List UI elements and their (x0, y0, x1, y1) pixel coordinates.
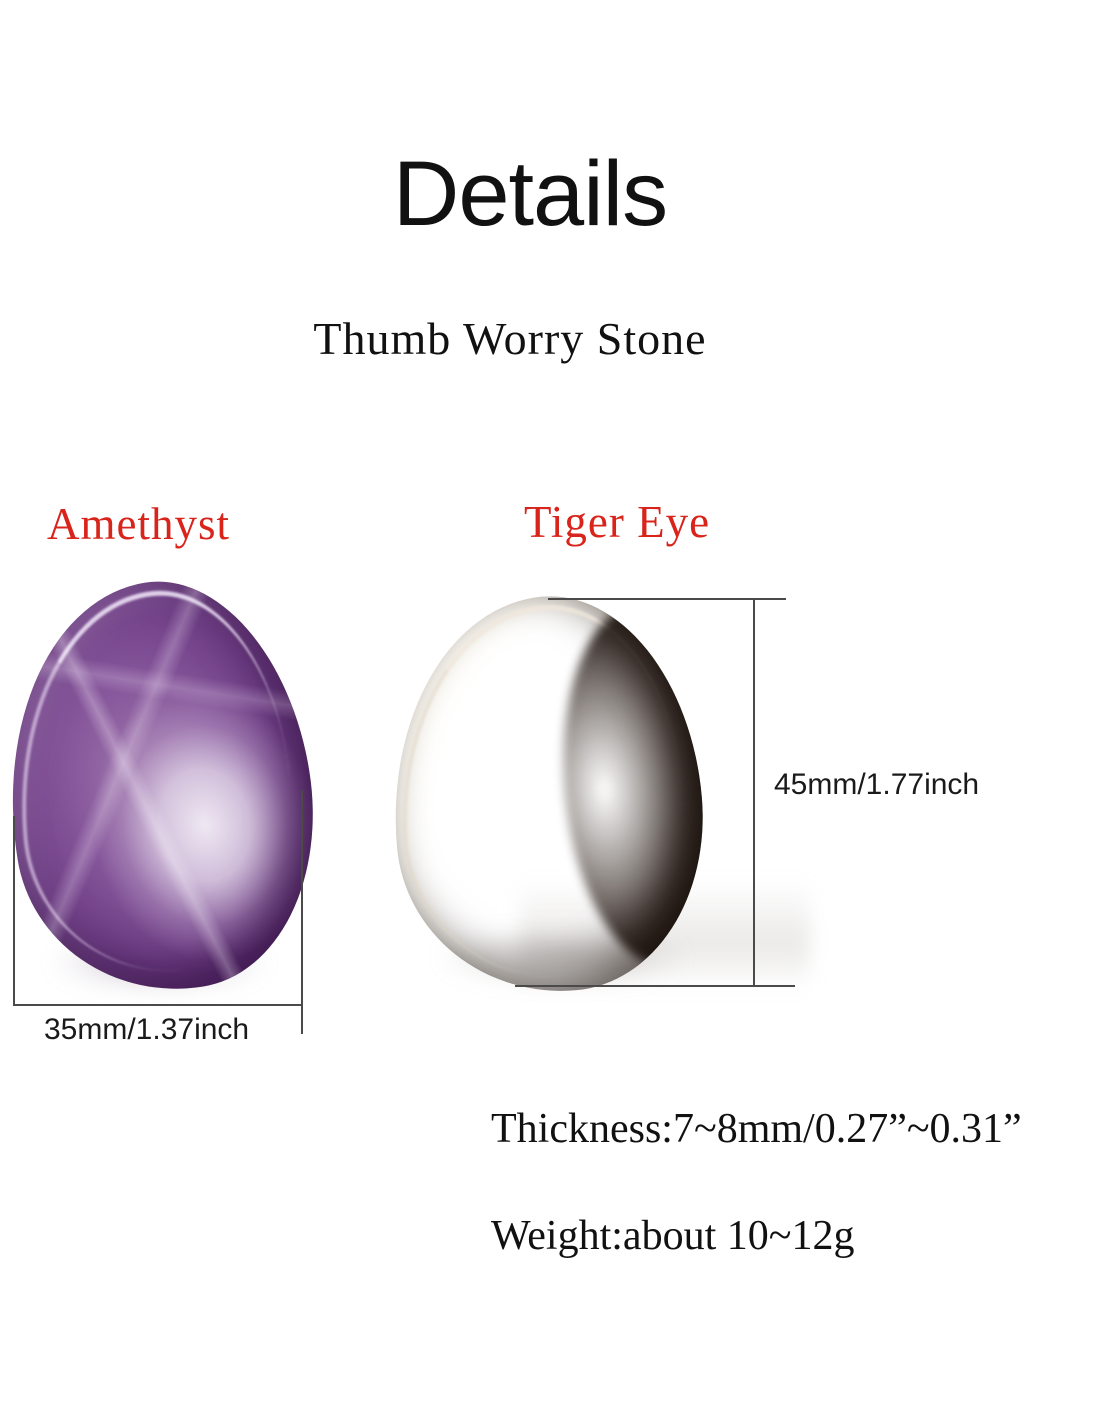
amethyst-width-dimension-label: 35mm/1.37inch (44, 1013, 249, 1047)
tiger-eye-dimension-line-vertical (753, 598, 755, 987)
product-detail-infographic: Details Thumb Worry Stone Amethyst Tiger… (0, 0, 1100, 1422)
tiger-eye-dimension-line-top (548, 598, 786, 600)
amethyst-dimension-line-left (13, 816, 15, 1006)
amethyst-dimension-line-bottom (13, 1004, 301, 1006)
stone-label-amethyst: Amethyst (47, 498, 230, 550)
tiger-eye-height-dimension-label: 45mm/1.77inch (774, 768, 979, 802)
product-subtitle: Thumb Worry Stone (0, 312, 1020, 365)
amethyst-stone-image (0, 562, 340, 1012)
tiger-eye-stone-image (376, 584, 717, 1004)
spec-thickness: Thickness:7~8mm/0.27”~0.31” (491, 1105, 1022, 1153)
amethyst-dimension-line-right (301, 790, 303, 1034)
page-title: Details (0, 148, 1060, 240)
stone-label-tiger-eye: Tiger Eye (524, 496, 710, 548)
spec-weight: Weight:about 10~12g (491, 1212, 854, 1260)
